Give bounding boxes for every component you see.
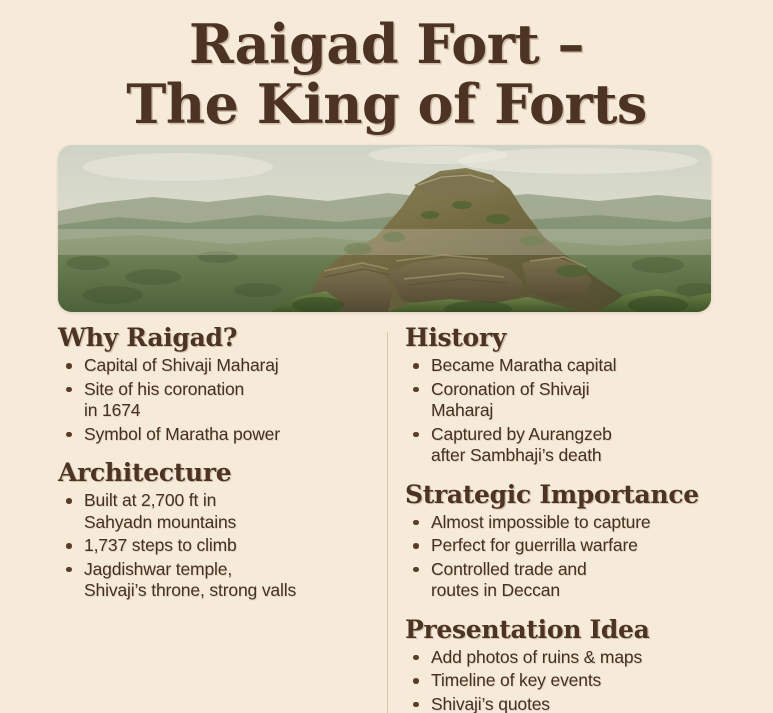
list-item: Controlled trade and routes in Deccan <box>405 559 773 602</box>
list-item-line: Capital of Shivaji Maharaj <box>84 355 383 377</box>
list-item: Built at 2,700 ft in Sahyadn mountains <box>58 490 383 533</box>
list-item: 1,737 steps to climb <box>58 535 383 557</box>
list-item-line: Controlled trade and <box>431 559 773 581</box>
page-title-line-1: Raigad Fort – <box>0 14 773 74</box>
list-item: Coronation of Shivaji Maharaj <box>405 379 773 422</box>
left-column: Why Raigad? Capital of Shivaji Maharaj S… <box>58 322 383 604</box>
bullet-list: Built at 2,700 ft in Sahyadn mountains 1… <box>58 490 383 602</box>
bullet-list: Add photos of ruins & maps Timeline of k… <box>405 647 773 713</box>
list-item-line: Captured by Aurangzeb <box>431 424 773 446</box>
list-item-line: Became Maratha capital <box>431 355 773 377</box>
section-architecture: Architecture Built at 2,700 ft in Sahyad… <box>58 457 383 602</box>
list-item: Site of his coronation in 1674 <box>58 379 383 422</box>
list-item-line: Site of his coronation <box>84 379 383 401</box>
list-item-line: Perfect for guerrilla warfare <box>431 535 773 557</box>
page-title-line-2: The King of Forts <box>0 74 773 134</box>
list-item: Capital of Shivaji Maharaj <box>58 355 383 377</box>
list-item: Became Maratha capital <box>405 355 773 377</box>
section-strategic-importance: Strategic Importance Almost impossible t… <box>405 479 773 602</box>
list-item: Add photos of ruins & maps <box>405 647 773 669</box>
list-item-line: Symbol of Maratha power <box>84 424 383 446</box>
section-heading: Strategic Importance <box>405 479 773 510</box>
column-divider <box>387 332 388 713</box>
list-item-line: in 1674 <box>84 400 383 422</box>
list-item: Almost impossible to capture <box>405 512 773 534</box>
section-heading: History <box>405 322 773 353</box>
list-item-line: Built at 2,700 ft in <box>84 490 383 512</box>
list-item-line: Coronation of Shivaji <box>431 379 773 401</box>
section-heading: Why Raigad? <box>58 322 383 353</box>
list-item-line: Shivaji’s throne, strong valls <box>84 580 383 602</box>
list-item-line: Timeline of key events <box>431 670 773 692</box>
list-item: Symbol of Maratha power <box>58 424 383 446</box>
list-item-line: routes in Deccan <box>431 580 773 602</box>
list-item-line: Add photos of ruins & maps <box>431 647 773 669</box>
right-column: History Became Maratha capital Coronatio… <box>405 322 773 713</box>
list-item: Captured by Aurangzeb after Sambhaji’s d… <box>405 424 773 467</box>
fort-hill-photo <box>58 145 711 312</box>
list-item-line: Maharaj <box>431 400 773 422</box>
section-heading: Presentation Idea <box>405 614 773 645</box>
list-item-line: Shivaji’s quotes <box>431 694 773 713</box>
section-heading: Architecture <box>58 457 383 488</box>
section-why-raigad: Why Raigad? Capital of Shivaji Maharaj S… <box>58 322 383 445</box>
bullet-list: Almost impossible to capture Perfect for… <box>405 512 773 602</box>
page-title: Raigad Fort – The King of Forts <box>0 14 773 134</box>
list-item-line: Jagdishwar temple, <box>84 559 383 581</box>
list-item: Perfect for guerrilla warfare <box>405 535 773 557</box>
list-item-line: 1,737 steps to climb <box>84 535 383 557</box>
list-item-line: after Sambhaji’s death <box>431 445 773 467</box>
bullet-list: Became Maratha capital Coronation of Shi… <box>405 355 773 467</box>
section-history: History Became Maratha capital Coronatio… <box>405 322 773 467</box>
poster-canvas: Raigad Fort – The King of Forts <box>0 0 773 713</box>
list-item-line: Sahyadn mountains <box>84 512 383 534</box>
list-item-line: Almost impossible to capture <box>431 512 773 534</box>
section-presentation-idea: Presentation Idea Add photos of ruins & … <box>405 614 773 713</box>
list-item: Timeline of key events <box>405 670 773 692</box>
list-item: Shivaji’s quotes <box>405 694 773 713</box>
list-item: Jagdishwar temple, Shivaji’s throne, str… <box>58 559 383 602</box>
bullet-list: Capital of Shivaji Maharaj Site of his c… <box>58 355 383 445</box>
